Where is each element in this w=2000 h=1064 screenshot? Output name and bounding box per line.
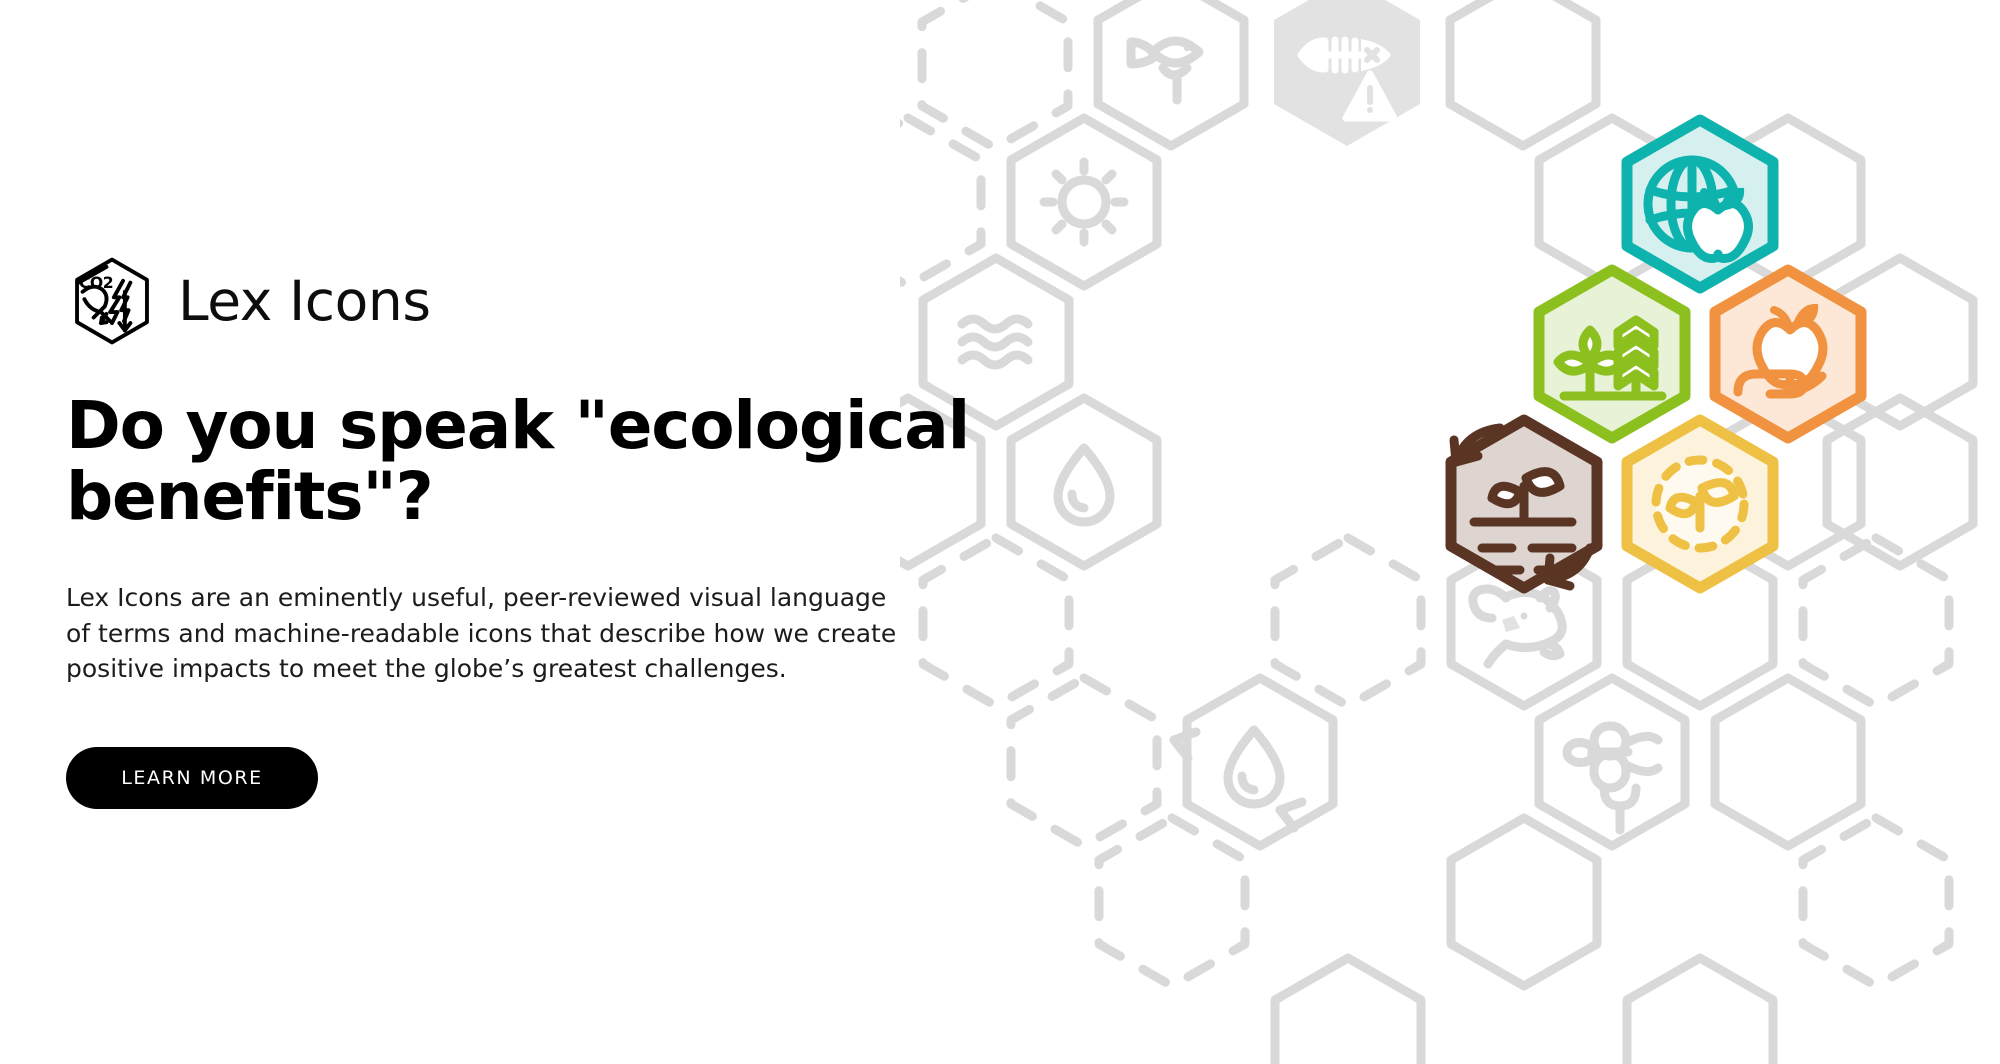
- hand-apple-hex-icon: [1715, 270, 1861, 438]
- fish-hex-icon: [1098, 0, 1244, 146]
- sprout-dashed-circle-hex-icon: [1627, 420, 1773, 588]
- empty-dashed-hex-icon: [1099, 818, 1245, 986]
- empty-outline-hex-icon: [1627, 958, 1773, 1064]
- brand-lockup: CO2 Lex Icons: [66, 255, 1026, 347]
- empty-dashed-hex-icon: [1011, 678, 1157, 846]
- bee-hex-icon: [1539, 678, 1685, 846]
- globe-apple-hex-icon: [1627, 120, 1773, 288]
- learn-more-button[interactable]: LEARN MORE: [66, 747, 318, 809]
- svg-text:CO2: CO2: [79, 273, 113, 292]
- water-drop-recycle-hex-icon: [1174, 678, 1333, 846]
- empty-outline-hex-icon: [1715, 678, 1861, 846]
- page-title: Do you speak "ecological benefits"?: [66, 391, 986, 532]
- empty-outline-hex-icon: [1450, 0, 1596, 146]
- empty-dashed-hex-icon: [1803, 818, 1949, 986]
- plant-wheat-hex-icon: [1539, 270, 1685, 438]
- soil-sprout-cycle-hex-icon: [1451, 420, 1597, 588]
- hero-description: Lex Icons are an eminently useful, peer-…: [66, 580, 906, 687]
- brand-name: Lex Icons: [178, 274, 431, 329]
- water-drop-hex-icon: [1011, 398, 1157, 566]
- empty-outline-hex-icon: [1275, 958, 1421, 1064]
- co2-hexagon-forest-logo-icon: CO2: [66, 255, 158, 347]
- empty-outline-hex-icon: [1451, 818, 1597, 986]
- hero-content: CO2 Lex Icons Do you speak "ecological b…: [66, 0, 1026, 1064]
- hero-section: CO2 Lex Icons Do you speak "ecological b…: [0, 0, 2000, 1064]
- empty-dashed-hex-icon: [1803, 538, 1949, 706]
- fish-skeleton-warning-hex-icon: [1274, 0, 1420, 146]
- honeycomb-illustration: [900, 0, 2000, 1064]
- empty-dashed-hex-icon: [1275, 538, 1421, 706]
- sun-hex-icon: [1011, 118, 1157, 286]
